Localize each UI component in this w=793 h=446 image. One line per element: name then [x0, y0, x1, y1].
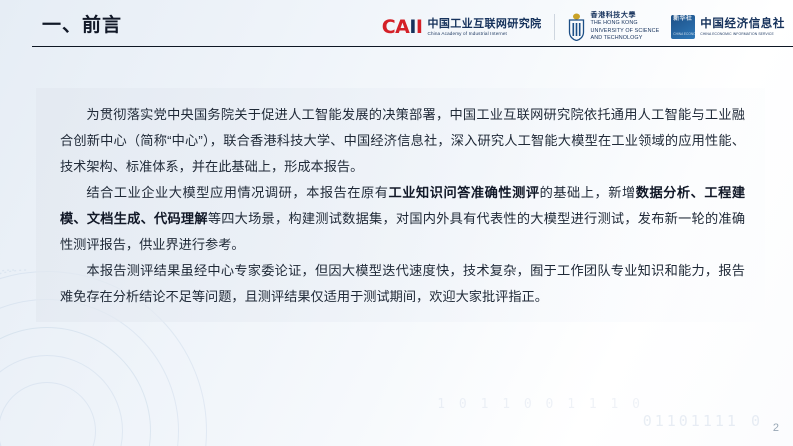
ceis-name-en: CHINA ECONOMIC INFORMATION SERVICE — [700, 32, 785, 36]
title-divider — [32, 46, 793, 47]
ceis-badge-cn: 新华社 — [673, 16, 692, 23]
logo-divider — [554, 14, 555, 40]
binary-watermark-secondary: 1 0 1 1 0 0 1 1 1 0 — [437, 397, 643, 412]
paragraph-1: 为贯彻落实党中央国务院关于促进人工智能发展的决策部署，中国工业互联网研究院依托通… — [60, 102, 745, 180]
page-title: 一、前言 — [42, 16, 122, 35]
caii-mark-part2: I — [409, 18, 416, 37]
caii-name-cn: 中国工业互联网研究院 — [428, 18, 542, 31]
hkust-name-en-line2: UNIVERSITY OF SCIENCE — [591, 28, 660, 35]
ceis-badge-icon: 新华社 CHINA ECONOMIC INFORMATION SERVICE — [671, 15, 695, 39]
content-body: 为贯彻落实党中央国务院关于促进人工智能发展的决策部署，中国工业互联网研究院依托通… — [36, 88, 765, 320]
caii-mark-part1: CA — [382, 18, 410, 37]
page-number: 2 — [773, 422, 779, 434]
binary-watermark: 01101111 0 — [643, 412, 763, 430]
logo-ceis: 新华社 CHINA ECONOMIC INFORMATION SERVICE 中… — [671, 11, 785, 43]
hkust-name-en-line1: THE HONG KONG — [591, 20, 660, 27]
ceis-badge-en: CHINA ECONOMIC INFORMATION SERVICE — [673, 33, 695, 37]
presentation-slide: 一、前言 CAII 中国工业互联网研究院 China Academy of In… — [0, 0, 793, 446]
ring-4 — [0, 355, 123, 446]
logo-caii: CAII 中国工业互联网研究院 China Academy of Industr… — [382, 11, 542, 43]
caii-name-block: 中国工业互联网研究院 China Academy of Industrial I… — [428, 18, 542, 36]
caii-mark-part3: I — [416, 18, 423, 37]
content-panel: 为贯彻落实党中央国务院关于促进人工智能发展的决策部署，中国工业互联网研究院依托通… — [36, 88, 765, 322]
hkust-name-cn: 香港科技大學 — [591, 12, 660, 21]
paragraph-3: 本报告测评结果虽经中心专家委论证，但因大模型迭代速度快，技术复杂，囿于工作团队专… — [60, 258, 745, 310]
hkust-shield-icon — [567, 13, 586, 41]
ring-3 — [0, 327, 151, 446]
slide-header: 一、前言 CAII 中国工业互联网研究院 China Academy of In… — [0, 0, 793, 52]
paragraph-2: 结合工业企业大模型应用情况调研，本报告在原有工业知识问答准确性测评的基础上，新增… — [60, 180, 745, 258]
hkust-name-block: 香港科技大學 THE HONG KONG UNIVERSITY OF SCIEN… — [591, 12, 660, 43]
ceis-name-block: 中国经济信息社 CHINA ECONOMIC INFORMATION SERVI… — [700, 18, 785, 35]
caii-wordmark-icon: CAII — [382, 18, 423, 37]
partner-logo-strip: CAII 中国工业互联网研究院 China Academy of Industr… — [382, 11, 785, 43]
ceis-name-cn: 中国经济信息社 — [700, 18, 785, 31]
ring-inner — [0, 382, 96, 446]
hkust-name-en-line3: AND TECHNOLOGY — [591, 35, 660, 42]
caii-name-en: China Academy of Industrial Internet — [428, 31, 542, 37]
logo-hkust: 香港科技大學 THE HONG KONG UNIVERSITY OF SCIEN… — [567, 11, 660, 43]
